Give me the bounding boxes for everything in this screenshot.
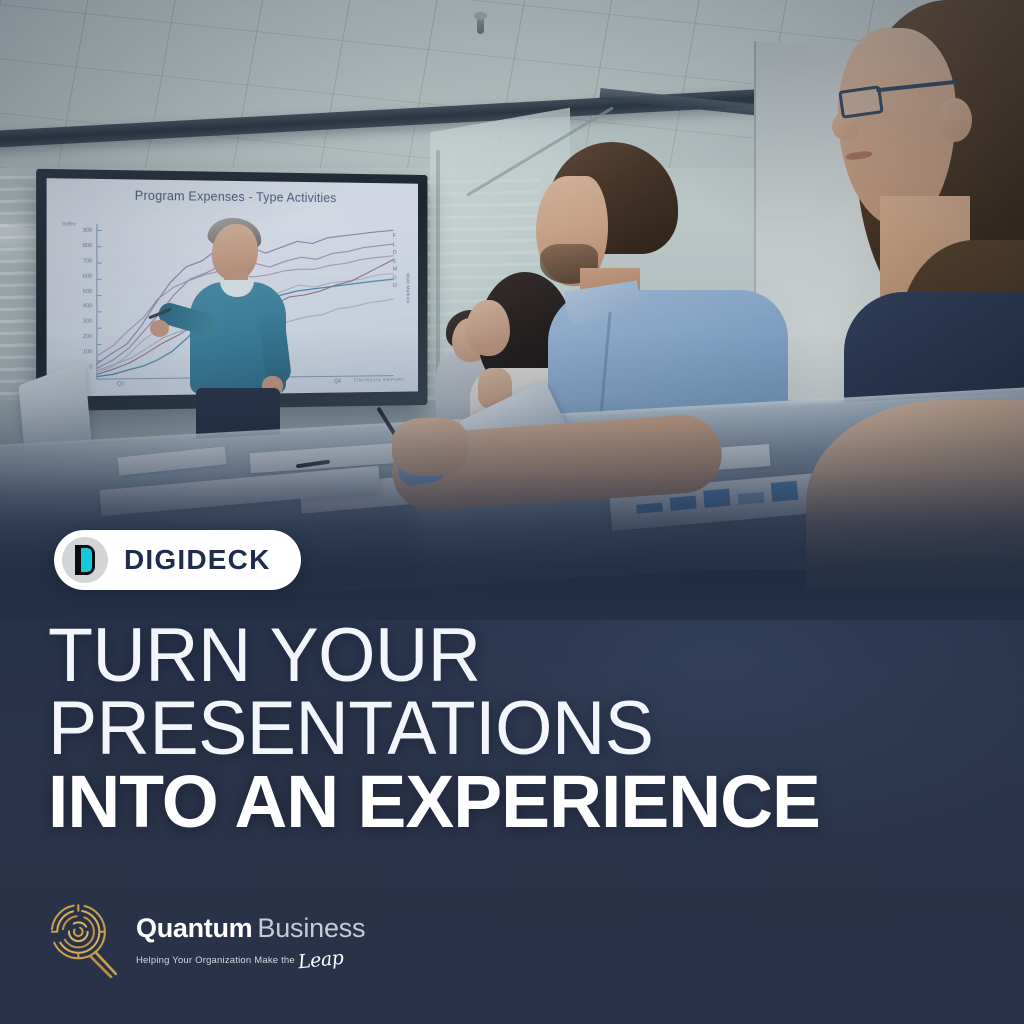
y-tick: 300 [57,319,92,325]
brand-tagline: Helping Your Organization Make the Leap [136,946,365,968]
letter-d-glyph [75,545,95,575]
brand-wordmark: Quantum Business Helping Your Organizati… [136,909,365,968]
slide-footer: FINANCIAL REPORT [354,378,405,384]
report-bar [703,489,730,508]
attendee-man-hand [392,418,468,476]
digideck-logo-icon [62,537,108,583]
report-bar [738,492,765,505]
y-tick: 100 [57,349,92,355]
report-bar [771,481,799,502]
series-label: D [393,251,397,256]
promo-poster: Program Expenses - Type Activities Index… [0,0,1024,1024]
y-tick: 600 [57,273,92,279]
report-bar [670,496,697,511]
chart-series-labels: F L D E M U O [393,234,397,289]
x-tick: Q4 [334,379,341,385]
y-tick: 400 [57,304,92,310]
series-label: U [393,276,397,281]
series-label: L [393,243,397,248]
quantum-business-logo: Quantum Business Helping Your Organizati… [44,898,365,978]
series-label: M [393,267,397,272]
quantum-maze-magnifier-icon [44,898,122,978]
sprinkler-head-icon [477,18,484,34]
attendee-woman-face [466,300,510,356]
page-title: TURN YOUR PRESENTATIONS INTO AN EXPERIEN… [48,620,978,837]
headline-line-3: INTO AN EXPERIENCE [48,766,969,837]
brand-name-light: Business [257,913,365,944]
y-tick: 700 [57,258,92,264]
series-label: E [393,259,397,264]
brand-tagline-script: Leap [297,946,344,973]
digideck-badge[interactable]: DIGIDECK [54,530,301,590]
presenter-person [150,216,320,456]
y-tick: 200 [57,334,92,340]
foreground-woman-ear [938,98,972,142]
x-tick: Q1 [117,381,125,387]
digideck-label: DIGIDECK [124,544,271,576]
presenter-left-hand [150,320,169,337]
y-tick: 900 [57,228,92,234]
slide-title: Program Expenses - Type Activities [47,187,418,206]
headline-line-1: TURN YOUR [48,620,950,693]
y-tick: 800 [57,243,92,249]
y-tick: 500 [57,288,92,294]
chart-side-axis-label: Main Markets [406,273,411,303]
brand-name-row: Quantum Business [136,913,365,944]
report-bar [636,503,663,514]
brand-name-bold: Quantum [136,913,252,944]
series-label: O [393,284,397,289]
headline-line-2: PRESENTATIONS [48,693,950,766]
chart-y-tick-labels: 900 800 700 600 500 400 300 200 100 0 [57,228,92,371]
brand-tagline-text: Helping Your Organization Make the [136,955,295,966]
series-label: F [393,234,397,239]
